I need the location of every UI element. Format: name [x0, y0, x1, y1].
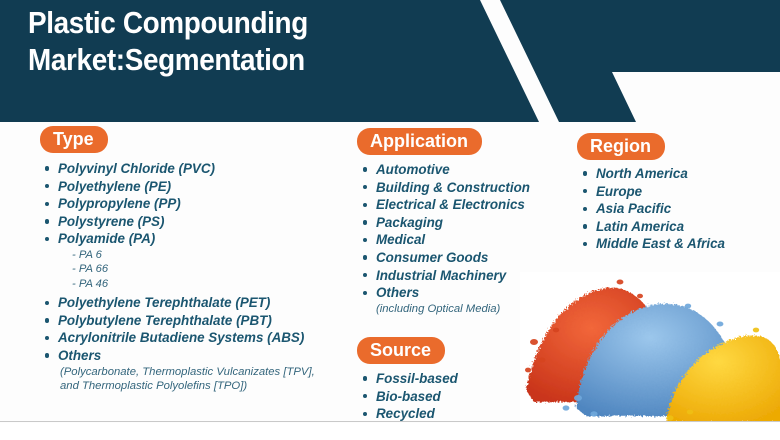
list-item: Consumer Goods	[362, 249, 562, 267]
list-item: Polybutylene Terephthalate (PBT)	[44, 312, 364, 330]
bullet-icon	[363, 185, 367, 189]
bullet-icon	[45, 202, 49, 206]
list-item: Latin America	[582, 218, 772, 236]
list-type: Polyvinyl Chloride (PVC) Polyethylene (P…	[44, 160, 364, 393]
list-sub-item: - PA 46	[44, 277, 364, 291]
page-title: Plastic Compounding Market:Segmentation	[28, 4, 496, 78]
bullet-icon	[45, 184, 49, 188]
bullet-icon	[45, 219, 49, 223]
bullet-icon	[45, 336, 49, 340]
list-item: Bio-based	[362, 388, 542, 406]
list-source: Fossil-based Bio-based Recycled	[362, 370, 542, 423]
bullet-icon	[583, 171, 587, 175]
bullet-icon	[583, 224, 587, 228]
list-item: Polyvinyl Chloride (PVC)	[44, 160, 364, 178]
bullet-icon	[363, 376, 367, 380]
list-item: Building & Construction	[362, 179, 562, 197]
bullet-icon	[363, 220, 367, 224]
heading-source: Source	[357, 337, 445, 364]
infographic-page: Plastic Compounding Market:Segmentation …	[0, 0, 780, 440]
bullet-icon	[45, 318, 49, 322]
list-sub-item: - PA 6	[44, 248, 364, 262]
bullet-icon	[363, 291, 367, 295]
bullet-icon	[363, 273, 367, 277]
list-item: Middle East & Africa	[582, 235, 772, 253]
bullet-icon	[45, 353, 49, 357]
header-banner: Plastic Compounding Market:Segmentation	[0, 0, 780, 122]
bullet-icon	[583, 242, 587, 246]
list-item: Others	[44, 347, 364, 365]
bullet-icon	[45, 301, 49, 305]
list-item: Automotive	[362, 161, 562, 179]
list-item: Acrylonitrile Butadiene Systems (ABS)	[44, 329, 364, 347]
list-item: Electrical & Electronics	[362, 196, 562, 214]
list-item: Polypropylene (PP)	[44, 195, 364, 213]
list-item: Polyethylene Terephthalate (PET)	[44, 294, 364, 312]
list-sub-item: - PA 66	[44, 262, 364, 276]
footer-bar: TRANSPARENCY	[0, 423, 780, 440]
plastic-pellets-photo	[520, 272, 780, 422]
list-item: Polyamide (PA)	[44, 230, 364, 248]
list-item: Polyethylene (PE)	[44, 178, 364, 196]
list-item: Packaging	[362, 214, 562, 232]
bullet-icon	[363, 203, 367, 207]
bullet-icon	[583, 207, 587, 211]
list-item: Polystyrene (PS)	[44, 213, 364, 231]
others-note-type: (Polycarbonate, Thermoplastic Vulcanizat…	[44, 365, 364, 393]
list-item: Fossil-based	[362, 370, 542, 388]
heading-application: Application	[357, 128, 482, 155]
bullet-icon	[363, 255, 367, 259]
heading-type: Type	[40, 126, 108, 153]
list-item: Medical	[362, 231, 562, 249]
list-item: Europe	[582, 183, 772, 201]
bullet-icon	[363, 167, 367, 171]
bullet-icon	[45, 166, 49, 170]
heading-region: Region	[577, 133, 665, 160]
bullet-icon	[583, 189, 587, 193]
list-region: North America Europe Asia Pacific Latin …	[582, 165, 772, 253]
bullet-icon	[363, 238, 367, 242]
list-item: North America	[582, 165, 772, 183]
list-item: Asia Pacific	[582, 200, 772, 218]
bullet-icon	[363, 394, 367, 398]
bullet-icon	[45, 237, 49, 241]
bullet-icon	[363, 412, 367, 416]
